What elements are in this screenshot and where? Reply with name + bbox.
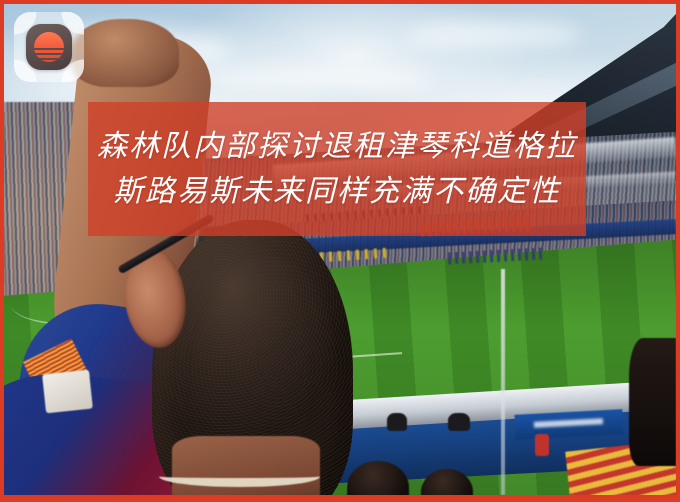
image-frame: 森林队内部探讨退租津琴科道格拉 斯路易斯未来同样充满不确定性 bbox=[0, 0, 680, 502]
photographer bbox=[448, 413, 470, 431]
steward bbox=[535, 434, 549, 456]
stadium-photo bbox=[4, 4, 676, 495]
headline-banner: 森林队内部探讨退租津琴科道格拉 斯路易斯未来同样充满不确定性 bbox=[88, 102, 586, 236]
sponsor-board bbox=[514, 409, 623, 439]
raised-fist bbox=[71, 19, 179, 88]
cloud bbox=[407, 20, 582, 50]
barrier-pole bbox=[501, 269, 505, 495]
logo-badge bbox=[26, 24, 72, 70]
headline-line-2: 斯路易斯未来同样充满不确定性 bbox=[113, 170, 561, 214]
foreground-spectator bbox=[629, 338, 676, 466]
headline-line-1: 森林队内部探讨退租津琴科道格拉 bbox=[97, 125, 577, 169]
jersey-badge bbox=[42, 370, 93, 414]
app-logo[interactable] bbox=[14, 12, 84, 82]
photographer bbox=[387, 413, 407, 431]
cloud bbox=[206, 66, 434, 92]
necklace bbox=[159, 466, 320, 487]
sunset-icon bbox=[34, 32, 64, 62]
